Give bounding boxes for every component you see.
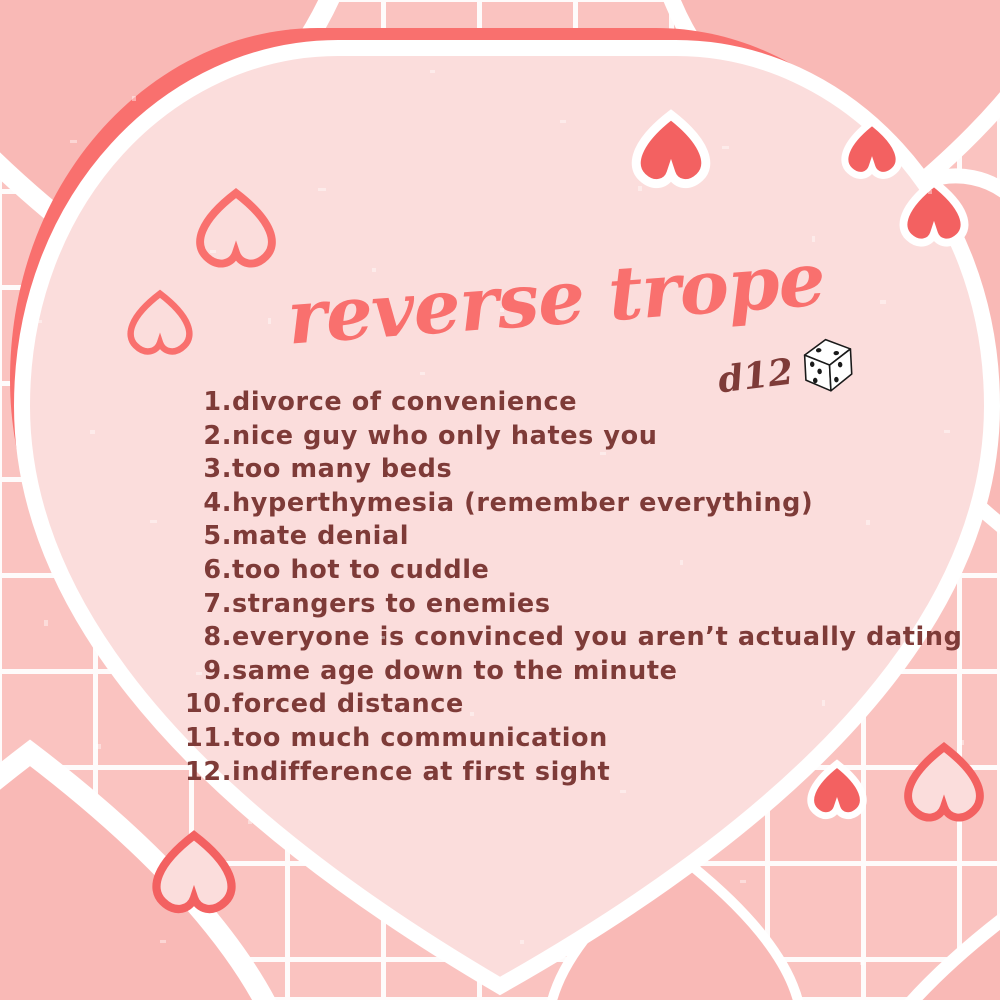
list-item-number: 3. bbox=[120, 453, 232, 487]
list-item-number: 10. bbox=[120, 688, 232, 722]
list-item: 5.mate denial bbox=[120, 520, 980, 554]
list-item-label: divorce of convenience bbox=[232, 386, 577, 420]
list-item-number: 12. bbox=[120, 756, 232, 790]
list-item-label: mate denial bbox=[232, 520, 409, 554]
list-item-label: too much communication bbox=[232, 722, 608, 756]
list-item-label: indifference at first sight bbox=[232, 756, 610, 790]
list-item-number: 2. bbox=[120, 420, 232, 454]
list-item: 2.nice guy who only hates you bbox=[120, 420, 980, 454]
list-item: 4.hyperthymesia (remember everything) bbox=[120, 487, 980, 521]
list-item-number: 11. bbox=[120, 722, 232, 756]
list-item-number: 9. bbox=[120, 655, 232, 689]
list-item-number: 1. bbox=[120, 386, 232, 420]
list-item: 10.forced distance bbox=[120, 688, 980, 722]
list-item-number: 5. bbox=[120, 520, 232, 554]
list-item-label: hyperthymesia (remember everything) bbox=[232, 487, 813, 521]
list-item-number: 8. bbox=[120, 621, 232, 655]
list-item: 8.everyone is convinced you aren’t actua… bbox=[120, 621, 980, 655]
list-item-number: 6. bbox=[120, 554, 232, 588]
list-item-label: everyone is convinced you aren’t actuall… bbox=[232, 621, 963, 655]
list-item: 6.too hot to cuddle bbox=[120, 554, 980, 588]
list-item-label: too hot to cuddle bbox=[232, 554, 489, 588]
list-item-label: same age down to the minute bbox=[232, 655, 678, 689]
list-item: 3.too many beds bbox=[120, 453, 980, 487]
list-item: 9.same age down to the minute bbox=[120, 655, 980, 689]
poster-canvas: reverse trope d12 bbox=[0, 0, 1000, 1000]
list-item: 12.indifference at first sight bbox=[120, 756, 980, 790]
list-item-label: forced distance bbox=[232, 688, 464, 722]
trope-list: 1.divorce of convenience 2.nice guy who … bbox=[120, 386, 980, 789]
list-item-number: 7. bbox=[120, 588, 232, 622]
list-item: 11.too much communication bbox=[120, 722, 980, 756]
list-item: 1.divorce of convenience bbox=[120, 386, 980, 420]
list-item-label: too many beds bbox=[232, 453, 452, 487]
list-item-label: nice guy who only hates you bbox=[232, 420, 658, 454]
list-item-number: 4. bbox=[120, 487, 232, 521]
list-item-label: strangers to enemies bbox=[232, 588, 551, 622]
list-item: 7.strangers to enemies bbox=[120, 588, 980, 622]
